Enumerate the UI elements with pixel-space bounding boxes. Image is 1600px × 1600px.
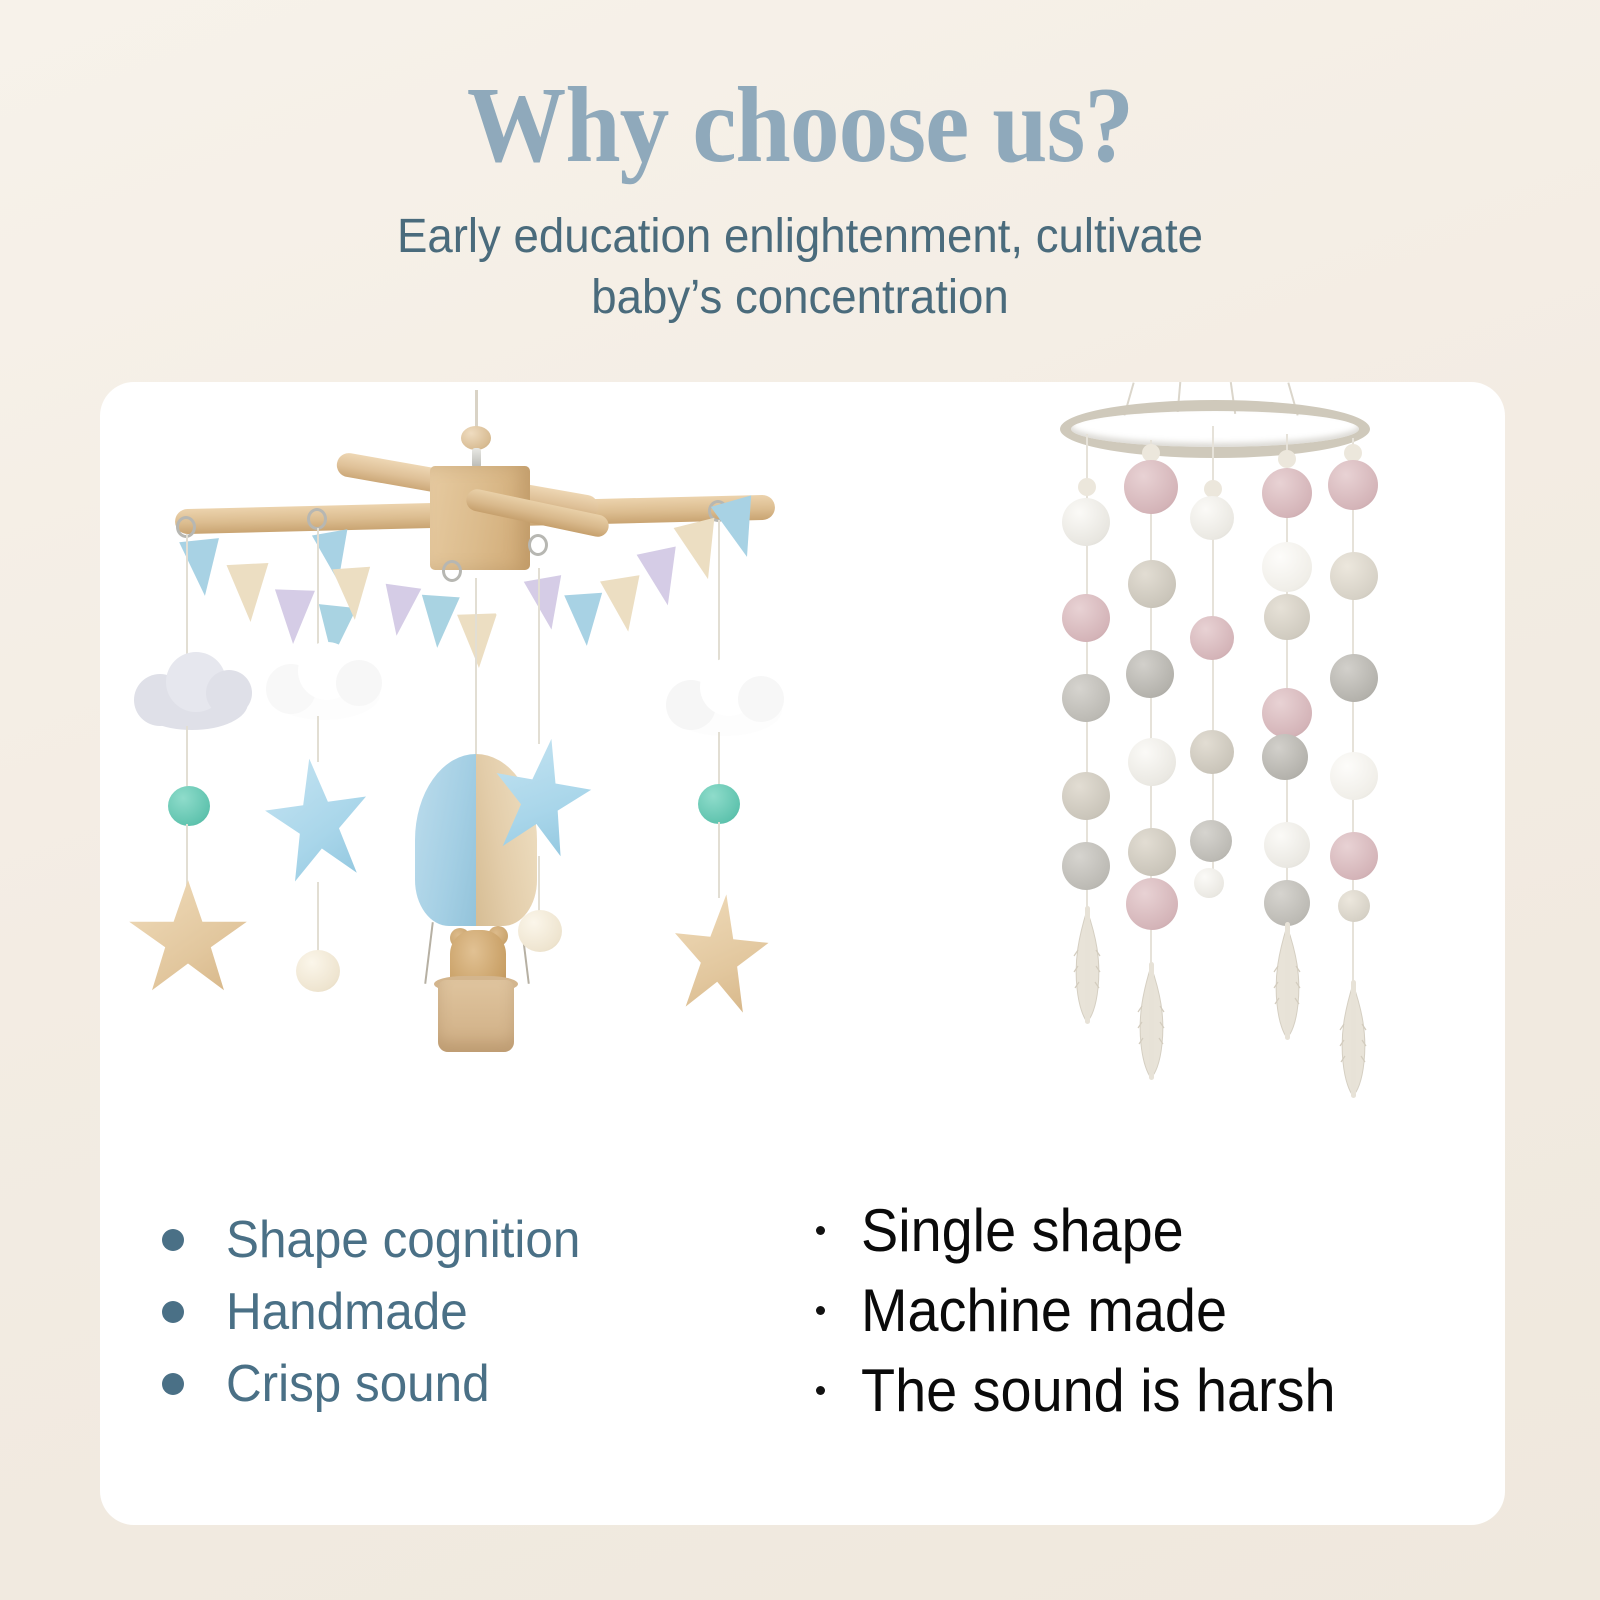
hanging-string bbox=[475, 578, 477, 758]
hanging-string bbox=[317, 882, 319, 954]
felt-ball-pink bbox=[1328, 460, 1378, 510]
felt-ball-warm-gray bbox=[1062, 772, 1110, 820]
list-item: Machine made bbox=[816, 1270, 1476, 1350]
felt-ball-mint bbox=[698, 784, 740, 824]
felt-cloud-white bbox=[260, 634, 388, 720]
felt-ball-white bbox=[1194, 868, 1224, 898]
felt-ball-pink bbox=[1330, 832, 1378, 880]
balloon-half-blue bbox=[415, 754, 476, 926]
felt-ball-pink bbox=[1262, 688, 1312, 738]
felt-ball-warm-gray bbox=[1330, 552, 1378, 600]
felt-ball-white bbox=[1062, 498, 1110, 546]
content-card: Shape cognition Handmade Crisp sound Sin… bbox=[100, 382, 1505, 1525]
hanging-string bbox=[186, 824, 188, 886]
felt-ball-mint bbox=[168, 786, 210, 826]
feature-comparison-lists: Shape cognition Handmade Crisp sound Sin… bbox=[100, 1172, 1505, 1525]
hanging-string bbox=[538, 856, 540, 914]
product-image-handmade-mobile bbox=[120, 382, 820, 1172]
hanging-string bbox=[186, 726, 188, 790]
bullet-dot-icon bbox=[816, 1226, 825, 1235]
hanging-string bbox=[538, 568, 540, 744]
wooden-bead-icon bbox=[461, 426, 491, 450]
bullet-dot-icon bbox=[162, 1229, 184, 1251]
product-image-machine-mobile bbox=[910, 382, 1470, 1172]
list-item: Shape cognition bbox=[162, 1204, 802, 1276]
wooden-bead-icon bbox=[1078, 478, 1096, 496]
hanging-cord bbox=[475, 390, 478, 428]
felt-ball-warm-gray bbox=[1190, 730, 1234, 774]
felt-star-tan bbox=[666, 889, 774, 1020]
bullet-dot-icon bbox=[816, 1306, 825, 1315]
wooden-feather-pendant bbox=[1336, 980, 1370, 1098]
bullet-dot-icon bbox=[162, 1373, 184, 1395]
wooden-feather-pendant bbox=[1134, 962, 1168, 1080]
subtitle-line-2: baby’s concentration bbox=[40, 267, 1560, 328]
felt-cloud-gray bbox=[126, 642, 258, 730]
hanger-ring-icon bbox=[442, 560, 462, 582]
product-comparison-images bbox=[100, 382, 1505, 1172]
felt-ball-cream bbox=[518, 910, 562, 952]
felt-ball-gray bbox=[1262, 734, 1308, 780]
feature-label: Single shape bbox=[861, 1196, 1184, 1265]
list-item: Handmade bbox=[162, 1276, 802, 1348]
felt-ball-gray bbox=[1126, 650, 1174, 698]
felt-ball-gray bbox=[1062, 674, 1110, 722]
balloon-basket bbox=[438, 980, 514, 1052]
balloon-rope bbox=[424, 922, 434, 984]
hanger-ring-icon bbox=[307, 508, 327, 530]
hanging-string bbox=[718, 822, 720, 898]
felt-ball-cream bbox=[296, 950, 340, 992]
felt-star-blue bbox=[258, 751, 379, 890]
wooden-bead-icon bbox=[1278, 450, 1296, 468]
felt-ball-white bbox=[1262, 542, 1312, 592]
hanging-string bbox=[718, 732, 720, 788]
metal-clip-icon bbox=[472, 448, 481, 468]
felt-ball-white bbox=[1190, 496, 1234, 540]
header: Why choose us? Early education enlighten… bbox=[0, 0, 1600, 329]
hanging-string bbox=[718, 520, 720, 670]
felt-cloud-white bbox=[660, 650, 790, 736]
list-item: The sound is harsh bbox=[816, 1350, 1476, 1430]
bullet-dot-icon bbox=[816, 1386, 825, 1395]
felt-ball-pink bbox=[1124, 460, 1178, 514]
list-item: Single shape bbox=[816, 1190, 1476, 1270]
felt-ball-warm-gray bbox=[1338, 890, 1370, 922]
wooden-feather-pendant bbox=[1270, 922, 1304, 1040]
felt-ball-pink bbox=[1062, 594, 1110, 642]
subtitle-line-1: Early education enlightenment, cultivate bbox=[40, 206, 1560, 267]
felt-ball-warm-gray bbox=[1128, 828, 1176, 876]
felt-ball-gray bbox=[1264, 880, 1310, 926]
hanging-string bbox=[1352, 438, 1354, 1008]
felt-ball-pink bbox=[1126, 878, 1178, 930]
wooden-hoop-ring bbox=[1060, 400, 1370, 458]
page-title: Why choose us? bbox=[64, 72, 1536, 180]
feature-label: The sound is harsh bbox=[861, 1356, 1336, 1425]
competitor-features-list: Single shape Machine made The sound is h… bbox=[816, 1190, 1476, 1430]
feature-label: Shape cognition bbox=[226, 1210, 580, 1270]
felt-ball-gray bbox=[1330, 654, 1378, 702]
felt-ball-pink bbox=[1190, 616, 1234, 660]
felt-ball-white bbox=[1330, 752, 1378, 800]
bullet-dot-icon bbox=[162, 1301, 184, 1323]
felt-ball-pink bbox=[1262, 468, 1312, 518]
felt-ball-gray bbox=[1062, 842, 1110, 890]
hanger-ring-icon bbox=[528, 534, 548, 556]
page-subtitle: Early education enlightenment, cultivate… bbox=[40, 206, 1560, 329]
feature-label: Crisp sound bbox=[226, 1354, 490, 1414]
felt-ball-warm-gray bbox=[1128, 560, 1176, 608]
feature-label: Machine made bbox=[861, 1276, 1227, 1345]
feature-label: Handmade bbox=[226, 1282, 468, 1342]
felt-ball-gray bbox=[1190, 820, 1232, 862]
felt-ball-white bbox=[1264, 822, 1310, 868]
list-item: Crisp sound bbox=[162, 1348, 802, 1420]
our-features-list: Shape cognition Handmade Crisp sound bbox=[162, 1204, 802, 1420]
wooden-feather-pendant bbox=[1070, 906, 1104, 1024]
hanging-string bbox=[317, 716, 319, 762]
felt-ball-white bbox=[1128, 738, 1176, 786]
felt-ball-warm-gray bbox=[1264, 594, 1310, 640]
felt-star-tan bbox=[128, 880, 248, 996]
